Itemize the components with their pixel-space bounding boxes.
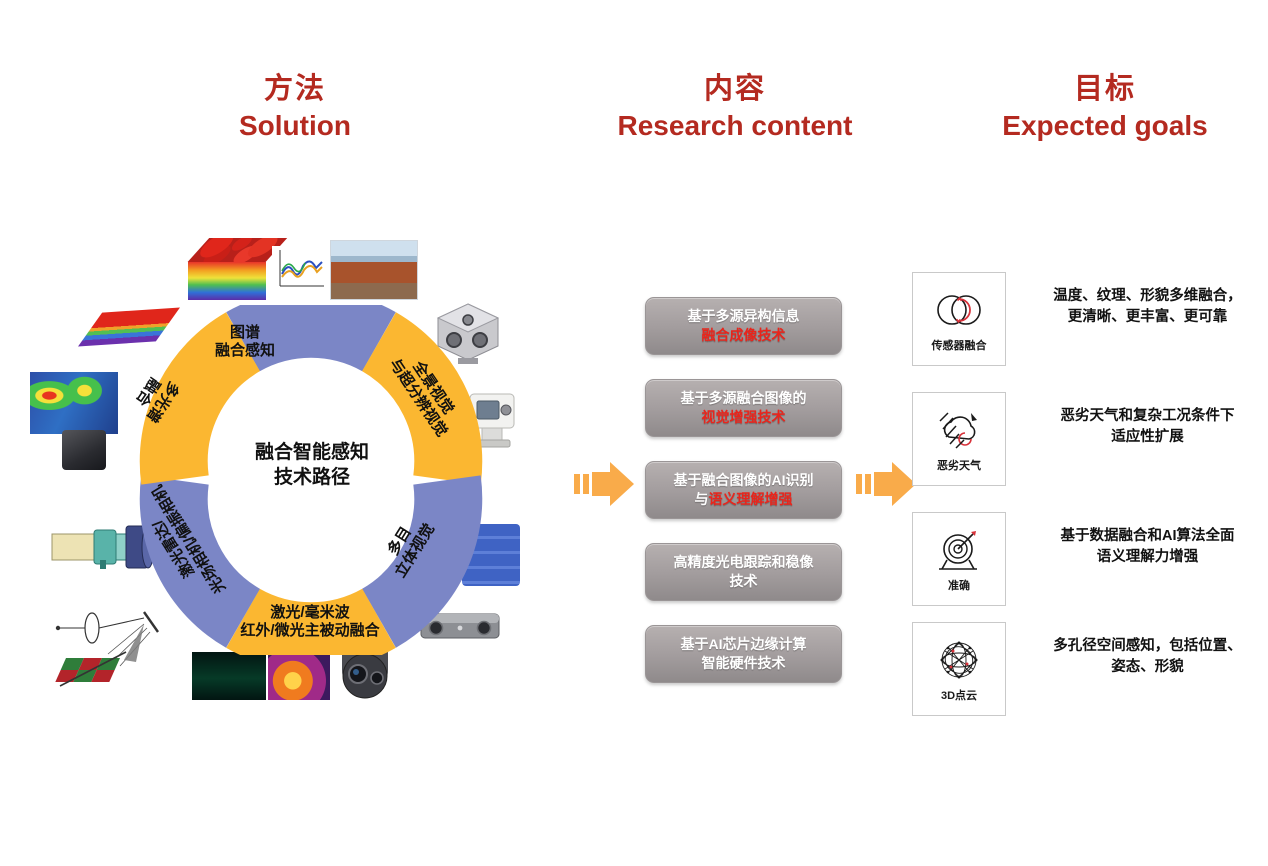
- hyperspectral-cube-top: [188, 238, 266, 300]
- goal-row-4: 3D点云 多孔径空间感知，包括位置、 姿态、形貌: [912, 622, 1262, 714]
- header-content-cn: 内容: [600, 72, 870, 106]
- low-light-fusion-image: [268, 652, 330, 700]
- goal-caption-2: 恶劣天气: [937, 457, 981, 473]
- content-card-4[interactable]: 高精度光电跟踪和稳像 技术: [645, 543, 842, 601]
- pipeline-inspection-photo: [330, 240, 418, 300]
- header-goals-cn: 目标: [985, 72, 1225, 106]
- venn-fusion-icon: [931, 285, 987, 335]
- goal-row-3: 准确 基于数据融合和AI算法全面 语义理解力增强: [912, 512, 1262, 604]
- point-cloud-icon: [931, 635, 987, 685]
- goal-icon-box-2: 恶劣天气: [912, 392, 1006, 486]
- goal-row-1: 传感器融合 温度、纹理、形貌多维融合， 更清晰、更丰富、更可靠: [912, 272, 1262, 364]
- arrow-content-to-goals: [856, 460, 918, 508]
- wheel-segment-left-bottom: [174, 480, 243, 618]
- night-vision-image: [192, 652, 266, 700]
- content-card-2-text: 基于多源融合图像的 视觉增强技术: [681, 389, 807, 426]
- goal-icon-box-4: 3D点云: [912, 622, 1006, 716]
- goal-icon-box-1: 传感器融合: [912, 272, 1006, 366]
- content-card-3-text: 基于融合图像的AI识别 与语义理解增强: [674, 471, 814, 508]
- content-card-4-text: 高精度光电跟踪和稳像 技术: [674, 553, 814, 590]
- goal-caption-1: 传感器融合: [932, 337, 987, 353]
- goal-row-2: 恶劣天气 恶劣天气和复杂工况条件下 适应性扩展: [912, 392, 1262, 484]
- spectral-curve-chart: [272, 246, 328, 294]
- header-solution-cn: 方法: [165, 72, 425, 106]
- wheel-segment-right-bottom: [379, 480, 448, 618]
- industrial-camera-module: [62, 430, 106, 470]
- cube-front-face: [188, 262, 266, 300]
- goal-caption-3: 准确: [948, 577, 970, 593]
- goal-caption-4: 3D点云: [941, 687, 977, 703]
- goal-icon-box-3: 准确: [912, 512, 1006, 606]
- header-goals-en: Expected goals: [985, 109, 1225, 142]
- content-card-3[interactable]: 基于融合图像的AI识别 与语义理解增强: [645, 461, 842, 519]
- wheel-segment-bottom: [243, 618, 379, 636]
- page-title-solution: 方法 Solution: [165, 72, 425, 142]
- wheel-segment-top: [243, 324, 379, 342]
- goal-text-4: 多孔径空间感知，包括位置、 姿态、形貌: [1030, 636, 1265, 677]
- arrow-solution-to-content: [574, 460, 636, 508]
- content-card-1-text: 基于多源异构信息 融合成像技术: [688, 307, 800, 344]
- goal-text-3: 基于数据融合和AI算法全面 语义理解力增强: [1030, 526, 1265, 567]
- thermal-infrared-image: [30, 372, 118, 434]
- content-card-5-text: 基于AI芯片边缘计算 智能硬件技术: [681, 635, 807, 672]
- goal-text-2: 恶劣天气和复杂工况条件下 适应性扩展: [1030, 406, 1265, 447]
- diagram-canvas: 方法 Solution 内容 Research content 目标 Expec…: [0, 0, 1268, 866]
- header-solution-en: Solution: [165, 109, 425, 142]
- content-card-2[interactable]: 基于多源融合图像的 视觉增强技术: [645, 379, 842, 437]
- content-card-1[interactable]: 基于多源异构信息 融合成像技术: [645, 297, 842, 355]
- goal-text-1: 温度、纹理、形貌多维融合， 更清晰、更丰富、更可靠: [1030, 286, 1265, 327]
- content-card-5[interactable]: 基于AI芯片边缘计算 智能硬件技术: [645, 625, 842, 683]
- page-title-content: 内容 Research content: [600, 72, 870, 142]
- target-accuracy-icon: [931, 525, 987, 575]
- header-content-en: Research content: [600, 109, 870, 142]
- bad-weather-icon: [931, 405, 987, 455]
- wheel-center-label: 融合智能感知 技术路径: [212, 440, 412, 491]
- page-title-goals: 目标 Expected goals: [985, 72, 1225, 142]
